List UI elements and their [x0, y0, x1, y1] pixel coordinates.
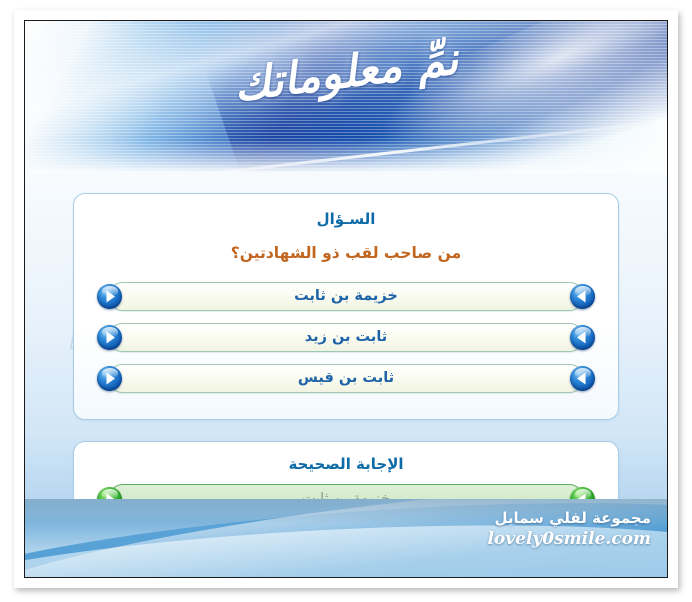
play-arrow-right-icon[interactable] — [97, 325, 122, 350]
option-label: ثابت بن زيد — [109, 324, 583, 351]
option-label: خزيمة بن ثابت — [109, 283, 583, 310]
content-area: السـؤال من صاحب لقب ذو الشهادتين؟ خزيمة … — [25, 173, 667, 499]
question-panel-title: السـؤال — [74, 210, 618, 228]
footer-banner: مجموعة لفلي سمايل lovely0smile.com — [25, 499, 667, 577]
options-list: خزيمة بن ثابت ثابت بن زيد — [74, 282, 618, 393]
question-panel: السـؤال من صاحب لقب ذو الشهادتين؟ خزيمة … — [73, 193, 619, 420]
footer-brand-arabic: مجموعة لفلي سمايل — [487, 509, 651, 527]
footer-brand-url[interactable]: lovely0smile.com — [487, 529, 651, 549]
header-banner: نمِّ معلوماتك — [25, 21, 667, 173]
footer-brand: مجموعة لفلي سمايل lovely0smile.com — [487, 509, 651, 549]
play-arrow-left-icon[interactable] — [570, 366, 595, 391]
play-arrow-left-icon[interactable] — [570, 325, 595, 350]
quiz-page: نمِّ معلوماتك lovely0smile.com السـؤال م… — [24, 20, 668, 578]
option-label: ثابت بن قيس — [109, 365, 583, 392]
play-arrow-right-icon[interactable] — [97, 366, 122, 391]
option-row[interactable]: ثابت بن زيد — [108, 323, 584, 352]
play-arrow-right-icon[interactable] — [97, 284, 122, 309]
outer-frame: نمِّ معلوماتك lovely0smile.com السـؤال م… — [14, 10, 678, 588]
question-text: من صاحب لقب ذو الشهادتين؟ — [74, 244, 618, 262]
option-row[interactable]: ثابت بن قيس — [108, 364, 584, 393]
play-arrow-left-icon[interactable] — [570, 284, 595, 309]
option-row[interactable]: خزيمة بن ثابت — [108, 282, 584, 311]
answer-panel-title: الإجابة الصحيحة — [74, 455, 618, 473]
header-bottom-fade — [25, 139, 667, 173]
